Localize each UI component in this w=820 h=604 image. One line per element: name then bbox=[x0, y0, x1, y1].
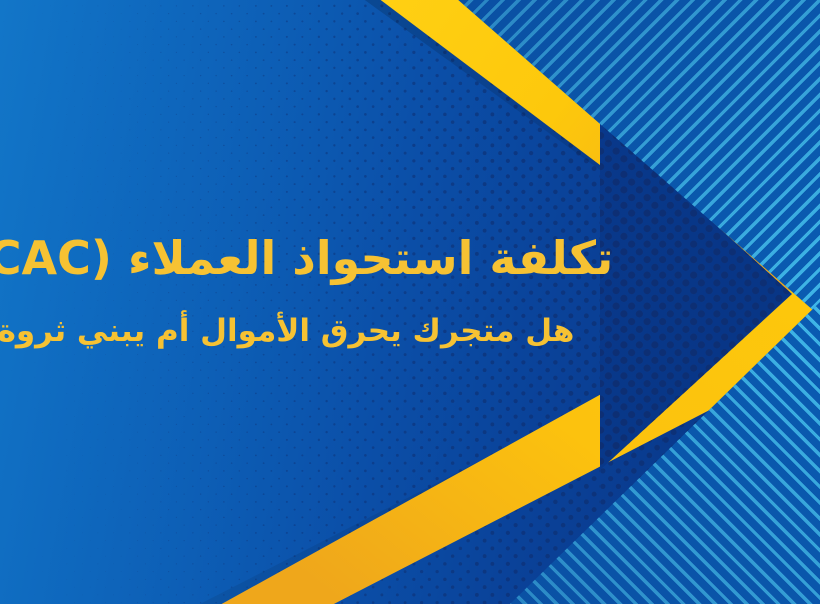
title-slide: تكلفة استحواذ العملاء (CAC) هل متجرك يحر… bbox=[0, 0, 820, 604]
